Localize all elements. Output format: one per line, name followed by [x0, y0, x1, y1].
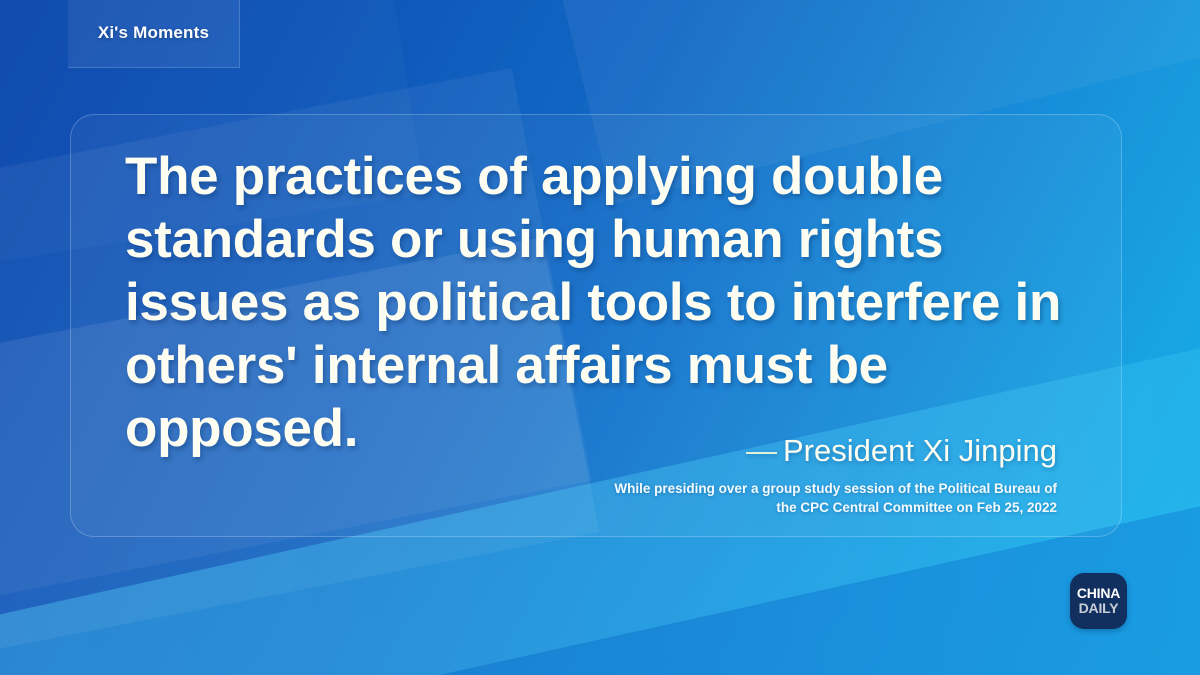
author-name: President Xi Jinping	[783, 433, 1057, 468]
series-badge-label: Xi's Moments	[98, 23, 209, 43]
quote-text: The practices of applying double standar…	[125, 145, 1095, 460]
china-daily-logo: CHINA DAILY	[1070, 573, 1127, 629]
poster-canvas: Xi's Moments The practices of applying d…	[0, 0, 1200, 675]
source-note: While presiding over a group study sessi…	[237, 479, 1057, 517]
attribution-block: —President Xi Jinping While presiding ov…	[237, 432, 1057, 517]
source-note-line-1: While presiding over a group study sessi…	[237, 479, 1057, 498]
em-dash: —	[746, 433, 783, 468]
author-line: —President Xi Jinping	[237, 432, 1057, 470]
series-badge: Xi's Moments	[68, 0, 240, 68]
logo-text-china: CHINA	[1077, 586, 1120, 601]
source-note-line-2: the CPC Central Committee on Feb 25, 202…	[237, 498, 1057, 517]
quote-card: The practices of applying double standar…	[70, 114, 1122, 537]
logo-text-daily: DAILY	[1079, 601, 1119, 616]
